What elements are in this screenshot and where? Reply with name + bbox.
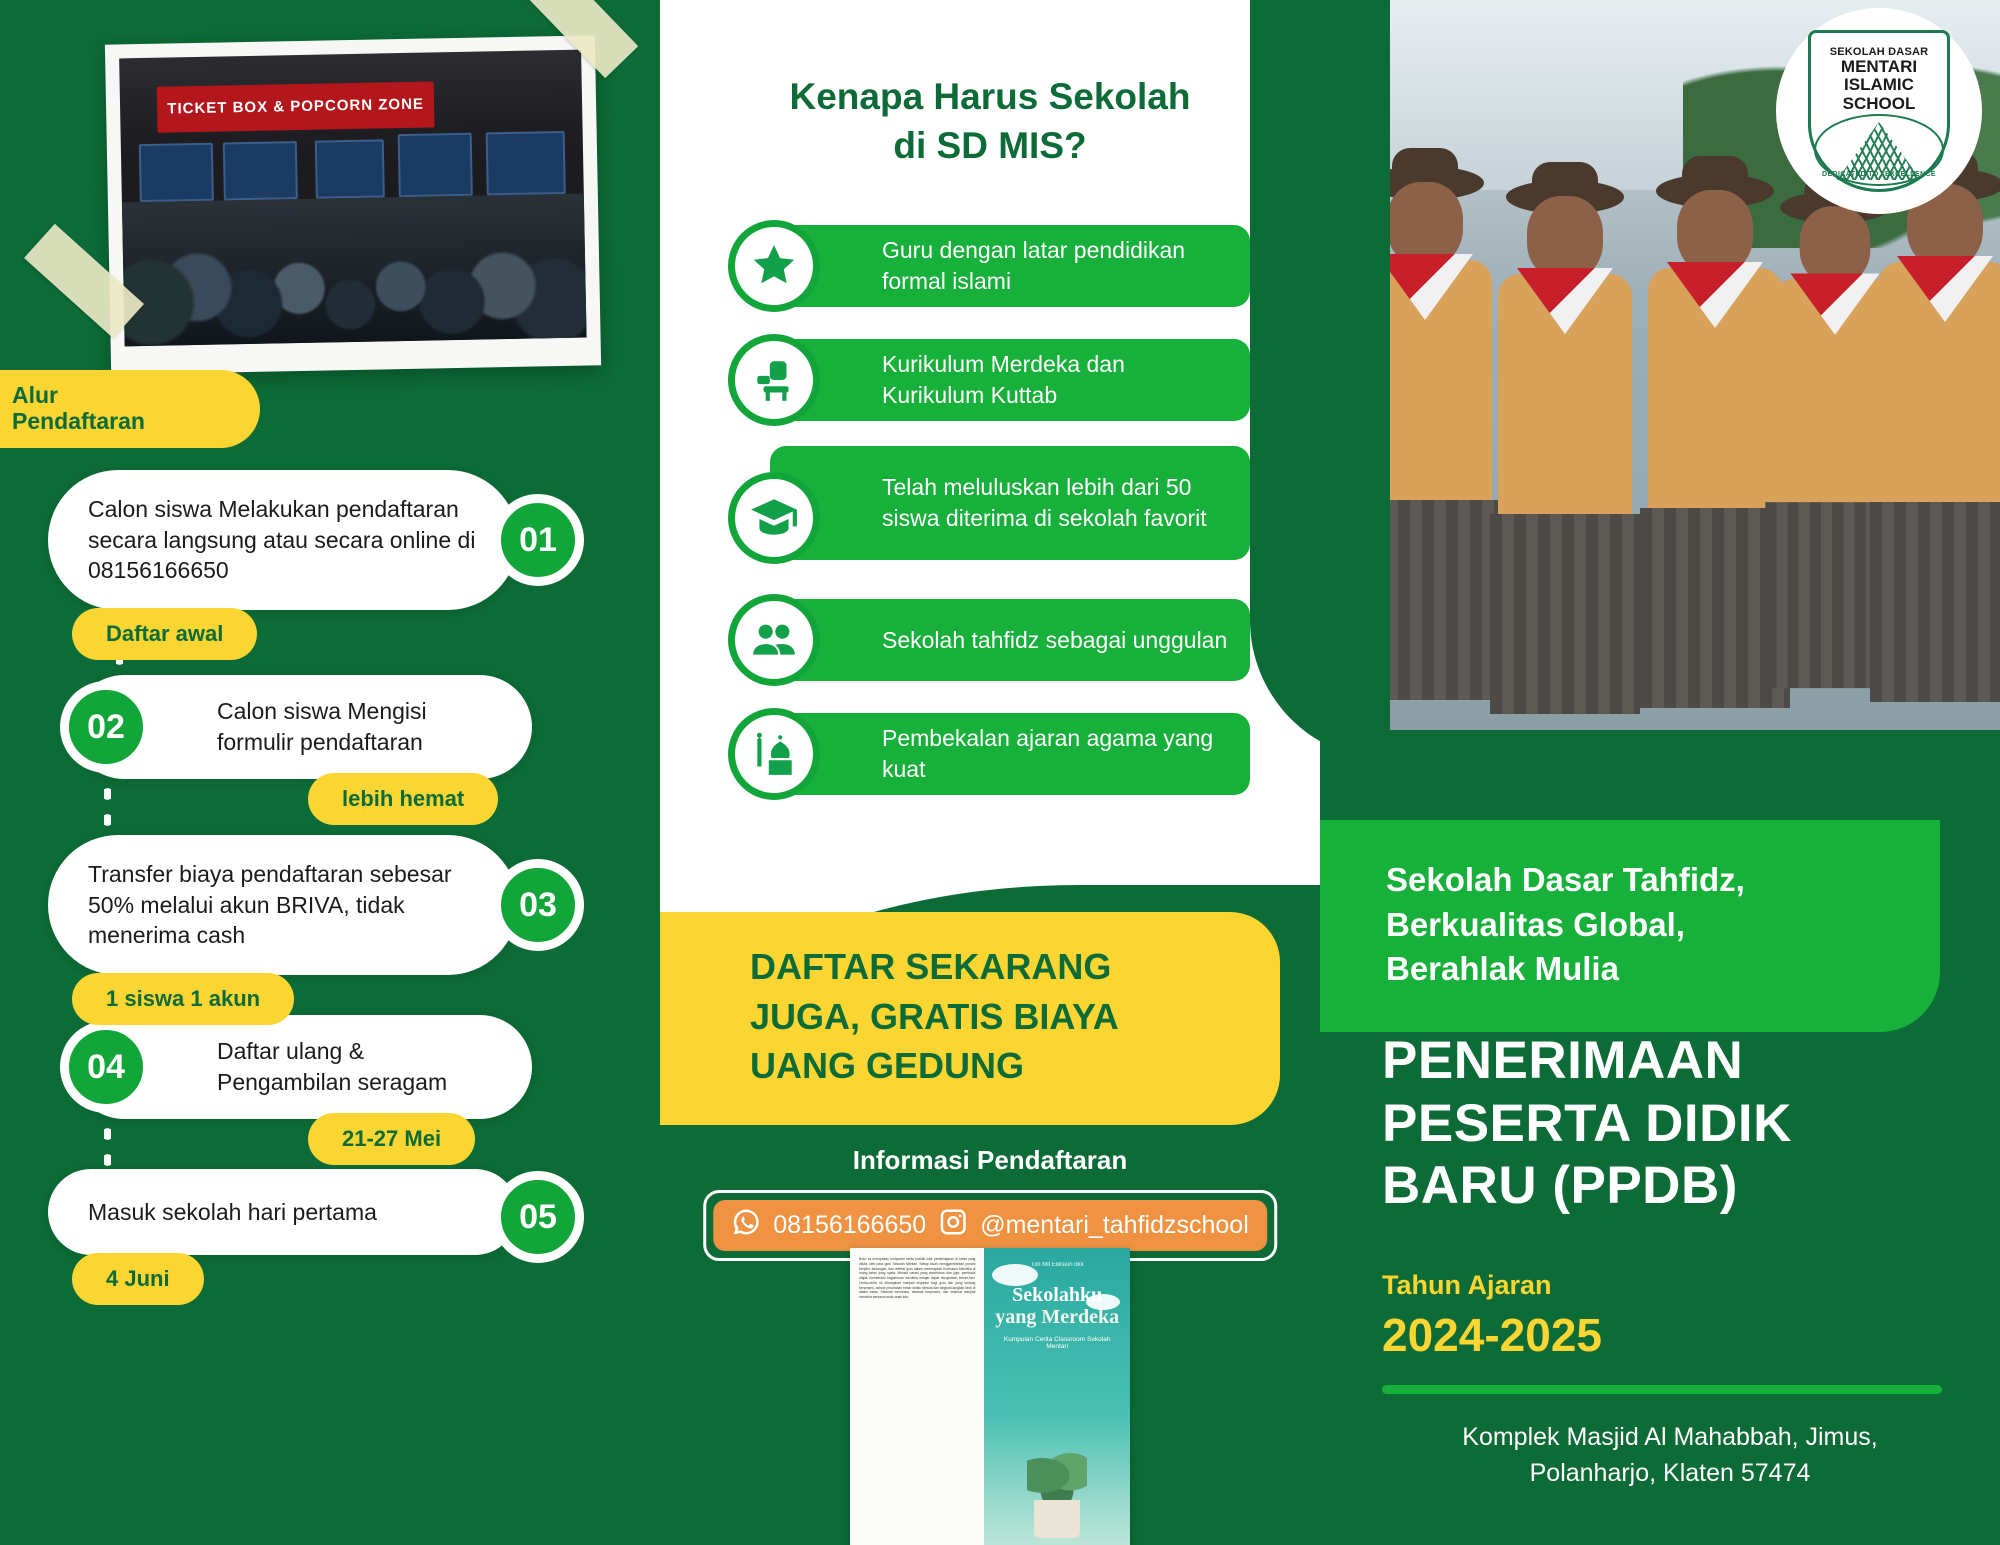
graduation-cap-icon xyxy=(728,472,820,564)
step-connector xyxy=(104,1121,111,1183)
why-title-line2: di SD MIS? xyxy=(660,121,1320,170)
why-section-title: Kenapa Harus Sekolah di SD MIS? xyxy=(660,72,1320,170)
shield-icon: SEKOLAH DASAR MENTARI ISLAMIC SCHOOL DED… xyxy=(1808,30,1950,192)
plant-icon xyxy=(1027,1452,1087,1504)
feature-item: Sekolah tahfidz sebagai unggulan xyxy=(728,592,1268,688)
step-tag: 4 Juni xyxy=(72,1253,204,1305)
book-subtitle: Kumpulan Cerita Classroom Sekolah Mentar… xyxy=(994,1336,1120,1350)
whatsapp-icon xyxy=(731,1207,761,1244)
step-item: Calon siswa Mengisi formulir pendaftaran… xyxy=(0,665,660,815)
alur-pendaftaran-tab: Alur Pendaftaran xyxy=(0,370,260,448)
book-cover-image: Buku ini merupakan kumpulan cerita prakt… xyxy=(850,1248,1130,1545)
step-item: Transfer biaya pendaftaran sebesar 50% m… xyxy=(0,815,660,1005)
step-tag: 21-27 Mei xyxy=(308,1113,475,1165)
cta-line2: JUGA, GRATIS BIAYA xyxy=(750,992,1240,1042)
whatsapp-number: 08156166650 xyxy=(773,1211,926,1240)
right-column: SEKOLAH DASAR MENTARI ISLAMIC SCHOOL DED… xyxy=(1320,0,2000,1545)
logo-line4: SCHOOL xyxy=(1808,95,1950,113)
academic-year-value: 2024-2025 xyxy=(1382,1308,1602,1362)
desk-icon xyxy=(728,334,820,426)
decorative-screen xyxy=(486,131,566,196)
step-text: Calon siswa Melakukan pendaftaran secara… xyxy=(48,470,518,610)
ribbon-right-text: EXCELLENCE xyxy=(1885,171,1936,178)
poster-canvas: TICKET BOX & POPCORN ZONE Alur Pendaftar… xyxy=(0,0,2000,1545)
photo-frame-cinema: TICKET BOX & POPCORN ZONE xyxy=(105,35,601,374)
student-figure xyxy=(1490,196,1640,716)
headline-line1: PENERIMAAN xyxy=(1382,1030,2000,1093)
cta-banner[interactable]: DAFTAR SEKARANG JUGA, GRATIS BIAYA UANG … xyxy=(660,912,1280,1125)
ppdb-headline: PENERIMAAN PESERTA DIDIK BARU (PPDB) xyxy=(1382,1030,2000,1218)
divider-bar xyxy=(1382,1385,1942,1394)
step-connector xyxy=(104,781,111,843)
step-item: Masuk sekolah hari pertama 05 4 Juni xyxy=(0,1155,660,1305)
ribbon-left-text: DEDICATED TO xyxy=(1822,171,1879,178)
decorative-screen xyxy=(315,140,385,199)
step-tag: Daftar awal xyxy=(72,608,257,660)
alur-title-line1: Alur xyxy=(12,383,260,409)
step-tag: 1 siswa 1 akun xyxy=(72,973,294,1025)
star-icon xyxy=(728,220,820,312)
feature-item: Telah meluluskan lebih dari 50 siswa dit… xyxy=(728,446,1268,574)
decorative-screen xyxy=(222,141,297,200)
feature-text: Telah meluluskan lebih dari 50 siswa dit… xyxy=(770,446,1250,560)
book-back-text: Buku ini merupakan kumpulan cerita prakt… xyxy=(850,1248,984,1545)
tagline-box: Sekolah Dasar Tahfidz, Berkualitas Globa… xyxy=(1320,820,1940,1032)
alur-title-line2: Pendaftaran xyxy=(12,409,260,435)
people-icon xyxy=(728,594,820,686)
logo-ribbon: DEDICATED TO EXCELLENCE xyxy=(1814,114,1944,186)
instagram-icon xyxy=(938,1207,968,1244)
feature-text: Kurikulum Merdeka dan Kurikulum Kuttab xyxy=(770,339,1250,421)
info-pendaftaran-title: Informasi Pendaftaran xyxy=(660,1145,1320,1176)
tagline-line1: Sekolah Dasar Tahfidz, xyxy=(1386,858,1894,903)
step-number: 04 xyxy=(60,1021,152,1113)
green-wave-divider xyxy=(1250,0,1390,760)
book-front-cover: Tim Mit Eliksiun dkk Sekolahku yang Merd… xyxy=(984,1248,1130,1545)
step-item: Calon siswa Melakukan pendaftaran secara… xyxy=(0,470,660,665)
cta-line3: UANG GEDUNG xyxy=(750,1041,1240,1091)
feature-item: Kurikulum Merdeka dan Kurikulum Kuttab xyxy=(728,332,1268,428)
school-address: Komplek Masjid Al Mahabbah, Jimus, Polan… xyxy=(1360,1420,1980,1491)
instagram-handle: @mentari_tahfidzschool xyxy=(980,1211,1249,1240)
step-tag: lebih hemat xyxy=(308,773,498,825)
contact-row: 08156166650 @mentari_tahfidzschool xyxy=(713,1200,1267,1251)
student-figure xyxy=(1870,184,2000,704)
step-text: Transfer biaya pendaftaran sebesar 50% m… xyxy=(48,835,518,975)
middle-column: Kenapa Harus Sekolah di SD MIS? Guru den… xyxy=(660,0,1320,1545)
cinema-photo: TICKET BOX & POPCORN ZONE xyxy=(119,50,586,347)
academic-year-label: Tahun Ajaran xyxy=(1382,1270,1552,1301)
tagline-line2: Berkualitas Global, xyxy=(1386,903,1894,948)
feature-item: Pembekalan ajaran agama yang kuat xyxy=(728,706,1268,802)
logo-line2: MENTARI xyxy=(1808,58,1950,76)
feature-item: Guru dengan latar pendidikan formal isla… xyxy=(728,218,1268,314)
step-text: Masuk sekolah hari pertama xyxy=(48,1169,518,1255)
cta-line1: DAFTAR SEKARANG xyxy=(750,942,1240,992)
step-number: 01 xyxy=(492,494,584,586)
registration-steps: Calon siswa Melakukan pendaftaran secara… xyxy=(0,470,660,1305)
feature-list: Guru dengan latar pendidikan formal isla… xyxy=(728,218,1268,820)
logo-line3: ISLAMIC xyxy=(1808,76,1950,94)
address-line2: Polanharjo, Klaten 57474 xyxy=(1360,1456,1980,1492)
address-line1: Komplek Masjid Al Mahabbah, Jimus, xyxy=(1360,1420,1980,1456)
step-item: Daftar ulang & Pengambilan seragam 04 21… xyxy=(0,1005,660,1155)
pot-icon xyxy=(1034,1500,1080,1538)
step-number: 05 xyxy=(492,1171,584,1263)
tagline-line3: Berahlak Mulia xyxy=(1386,947,1894,992)
feature-text: Guru dengan latar pendidikan formal isla… xyxy=(770,225,1250,307)
left-column: TICKET BOX & POPCORN ZONE Alur Pendaftar… xyxy=(0,0,660,1545)
photo-crowd xyxy=(122,194,587,347)
headline-line2: PESERTA DIDIK xyxy=(1382,1093,2000,1156)
headline-line3: BARU (PPDB) xyxy=(1382,1155,2000,1218)
decorative-screen xyxy=(398,132,473,197)
step-number: 02 xyxy=(60,681,152,773)
cloud-icon xyxy=(1086,1294,1120,1310)
feature-text: Sekolah tahfidz sebagai unggulan xyxy=(770,599,1250,681)
mosque-icon xyxy=(728,708,820,800)
decorative-screen xyxy=(139,143,214,202)
logo-text: SEKOLAH DASAR MENTARI ISLAMIC SCHOOL xyxy=(1808,46,1950,113)
why-title-line1: Kenapa Harus Sekolah xyxy=(660,72,1320,121)
school-logo: SEKOLAH DASAR MENTARI ISLAMIC SCHOOL DED… xyxy=(1776,8,1982,214)
photo-caption: TICKET BOX & POPCORN ZONE xyxy=(157,81,435,132)
book-byline: Tim Mit Eliksiun dkk xyxy=(994,1262,1120,1268)
feature-text: Pembekalan ajaran agama yang kuat xyxy=(770,713,1250,795)
step-number: 03 xyxy=(492,859,584,951)
